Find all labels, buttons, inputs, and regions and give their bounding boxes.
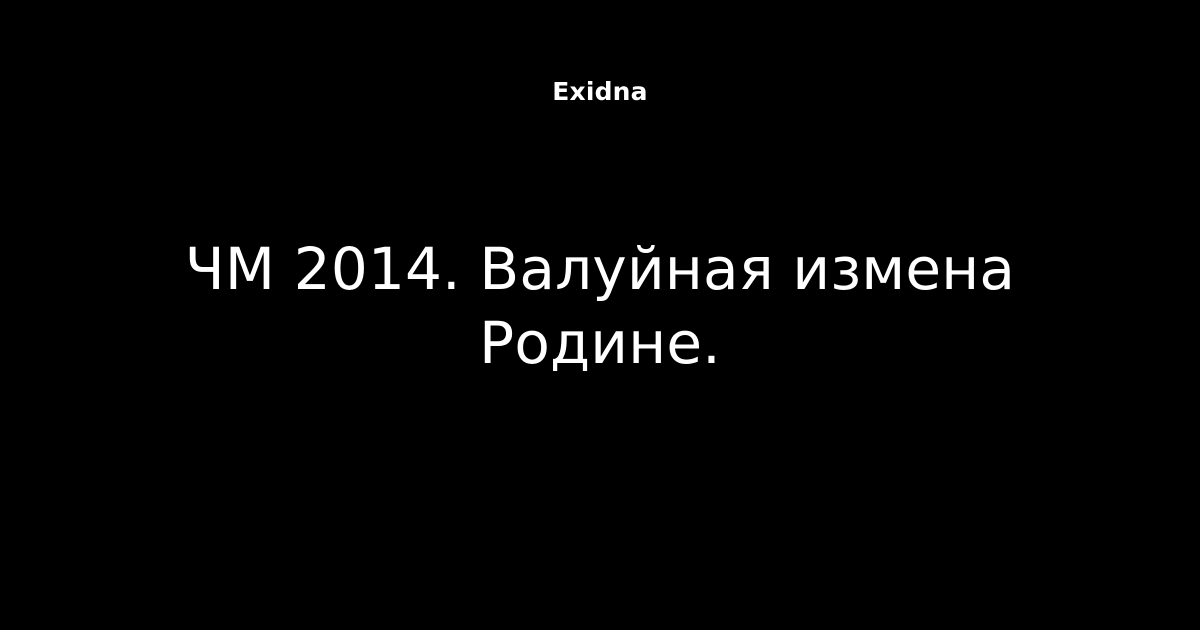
page-title: ЧМ 2014. Валуйная измена Родине. [60, 232, 1140, 380]
social-preview-card: Exidna ЧМ 2014. Валуйная измена Родине. [0, 0, 1200, 630]
title-container: ЧМ 2014. Валуйная измена Родине. [0, 232, 1200, 380]
site-name: Exidna [0, 75, 1200, 109]
